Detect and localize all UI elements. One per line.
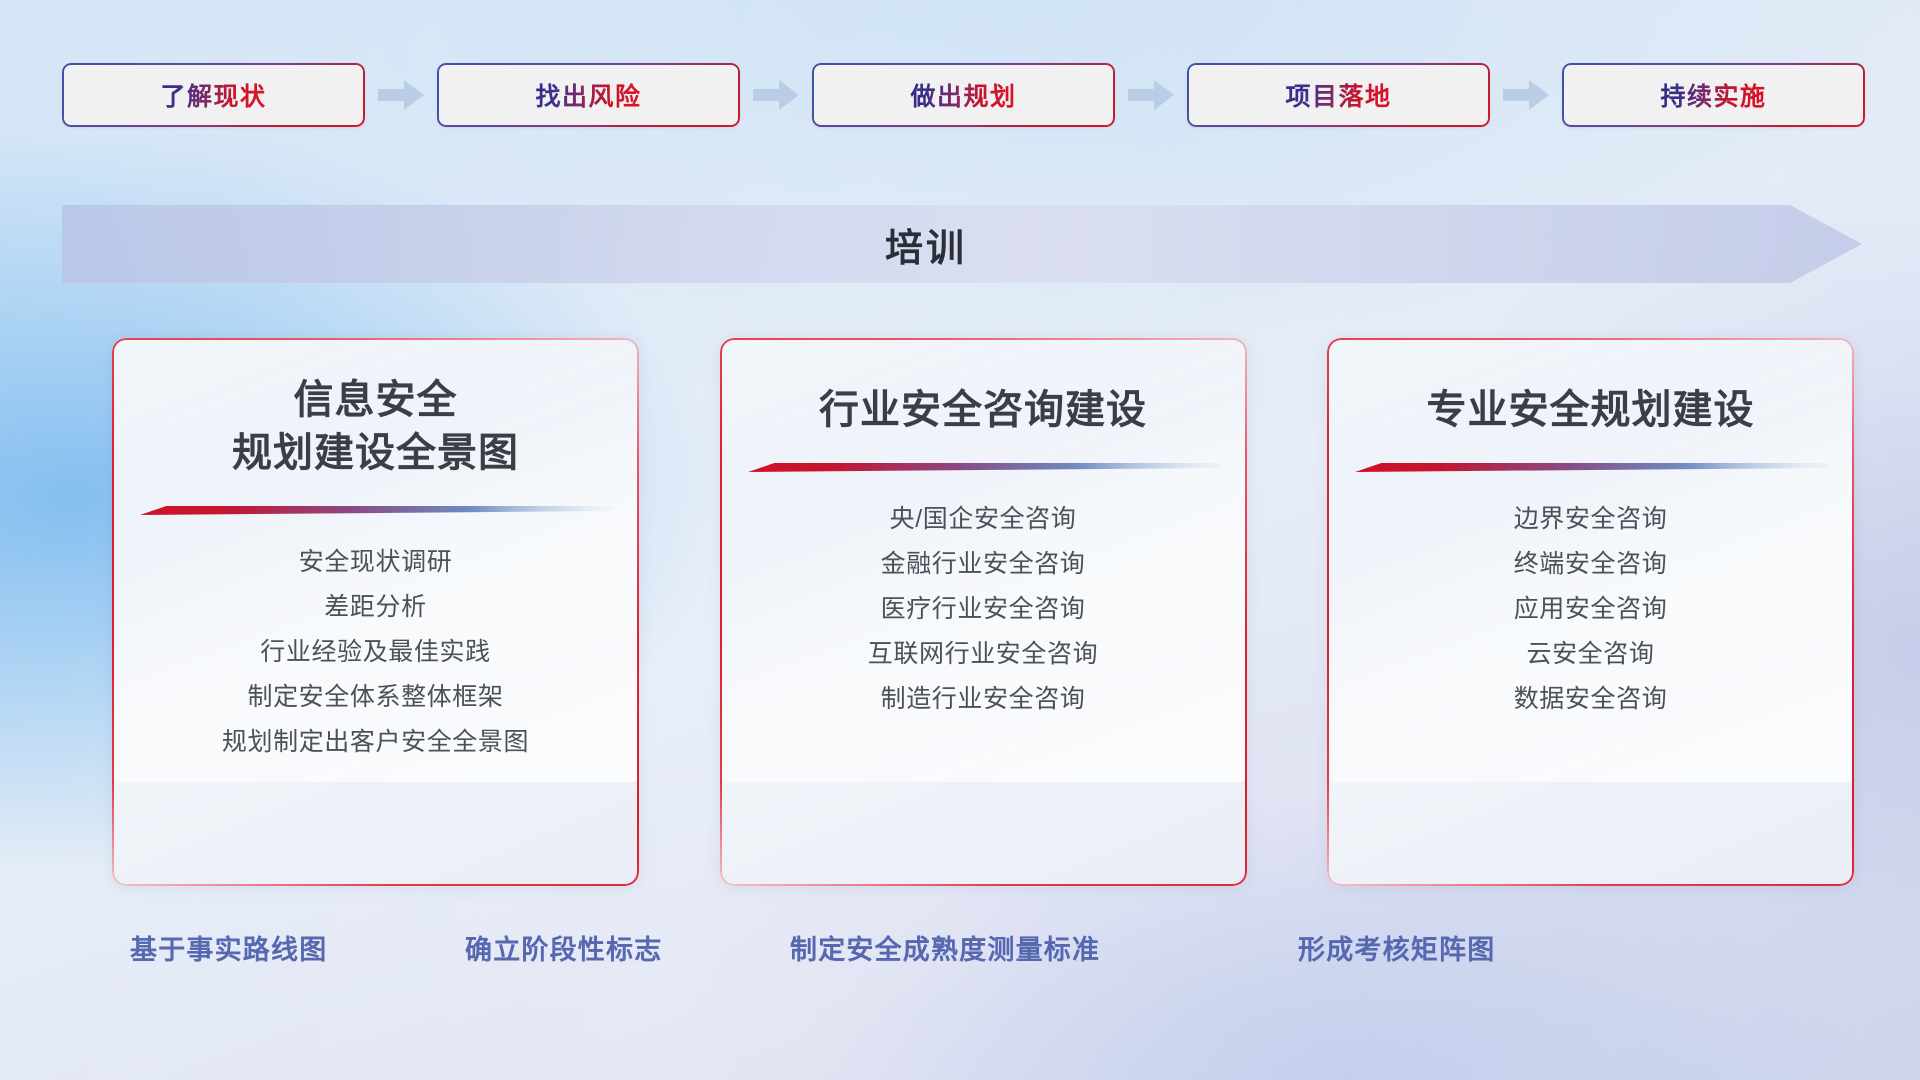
arrow-right-icon [1115,74,1187,116]
card-divider-icon [138,502,613,518]
slide-stage: 了解现状找出风险做出规划项目落地持续实施 培训 信息安全 规划建设全景图安全现状… [0,0,1920,1080]
list-item: 差距分析 [138,585,613,630]
content-card-2[interactable]: 行业安全咨询建设央/国企安全咨询金融行业安全咨询医疗行业安全咨询互联网行业安全咨… [720,338,1247,886]
list-item: 安全现状调研 [138,540,613,585]
card-item-list: 安全现状调研差距分析行业经验及最佳实践制定安全体系整体框架规划制定出客户安全全景… [138,540,613,765]
list-item: 行业经验及最佳实践 [138,630,613,675]
list-item: 终端安全咨询 [1353,542,1828,587]
list-item: 制造行业安全咨询 [746,677,1221,722]
arrow-right-icon [740,74,812,116]
process-step-label: 做出规划 [910,77,1016,113]
card-divider-icon [746,459,1221,475]
footer-label-2: 确立阶段性标志 [465,928,662,967]
training-banner: 培训 [62,205,1862,283]
card-item-list: 央/国企安全咨询金融行业安全咨询医疗行业安全咨询互联网行业安全咨询制造行业安全咨… [746,497,1221,722]
list-item: 央/国企安全咨询 [746,497,1221,542]
list-item: 应用安全咨询 [1353,587,1828,632]
card-title: 专业安全规划建设 [1427,384,1755,437]
card-title: 信息安全 规划建设全景图 [232,374,519,480]
content-card-3[interactable]: 专业安全规划建设边界安全咨询终端安全咨询应用安全咨询云安全咨询数据安全咨询 [1327,338,1854,886]
card-inner: 信息安全 规划建设全景图安全现状调研差距分析行业经验及最佳实践制定安全体系整体框… [112,338,639,886]
banner-title: 培训 [62,205,1862,283]
arrow-right-icon [1490,74,1562,116]
process-step-4[interactable]: 项目落地 [1187,63,1490,127]
card-title: 行业安全咨询建设 [819,384,1147,437]
footer-label-row: 基于事实路线图确立阶段性标志制定安全成熟度测量标准形成考核矩阵图 [0,928,1920,978]
process-step-3[interactable]: 做出规划 [812,63,1115,127]
process-step-2[interactable]: 找出风险 [437,63,740,127]
footer-label-3: 制定安全成熟度测量标准 [790,928,1100,967]
list-item: 云安全咨询 [1353,632,1828,677]
footer-label-1: 基于事实路线图 [130,928,327,967]
card-divider-icon [1353,459,1828,475]
list-item: 金融行业安全咨询 [746,542,1221,587]
card-inner: 行业安全咨询建设央/国企安全咨询金融行业安全咨询医疗行业安全咨询互联网行业安全咨… [720,338,1247,886]
process-step-label: 项目落地 [1285,77,1391,113]
process-step-1[interactable]: 了解现状 [62,63,365,127]
list-item: 制定安全体系整体框架 [138,675,613,720]
process-step-label: 找出风险 [535,77,641,113]
list-item: 互联网行业安全咨询 [746,632,1221,677]
card-inner: 专业安全规划建设边界安全咨询终端安全咨询应用安全咨询云安全咨询数据安全咨询 [1327,338,1854,886]
content-card-1[interactable]: 信息安全 规划建设全景图安全现状调研差距分析行业经验及最佳实践制定安全体系整体框… [112,338,639,886]
footer-label-4: 形成考核矩阵图 [1298,928,1495,967]
list-item: 医疗行业安全咨询 [746,587,1221,632]
list-item: 数据安全咨询 [1353,677,1828,722]
process-step-label: 持续实施 [1660,77,1766,113]
process-step-row: 了解现状找出风险做出规划项目落地持续实施 [62,62,1860,128]
process-step-5[interactable]: 持续实施 [1562,63,1865,127]
card-row: 信息安全 规划建设全景图安全现状调研差距分析行业经验及最佳实践制定安全体系整体框… [112,338,1854,886]
card-item-list: 边界安全咨询终端安全咨询应用安全咨询云安全咨询数据安全咨询 [1353,497,1828,722]
list-item: 规划制定出客户安全全景图 [138,720,613,765]
process-step-label: 了解现状 [160,77,266,113]
list-item: 边界安全咨询 [1353,497,1828,542]
arrow-right-icon [365,74,437,116]
